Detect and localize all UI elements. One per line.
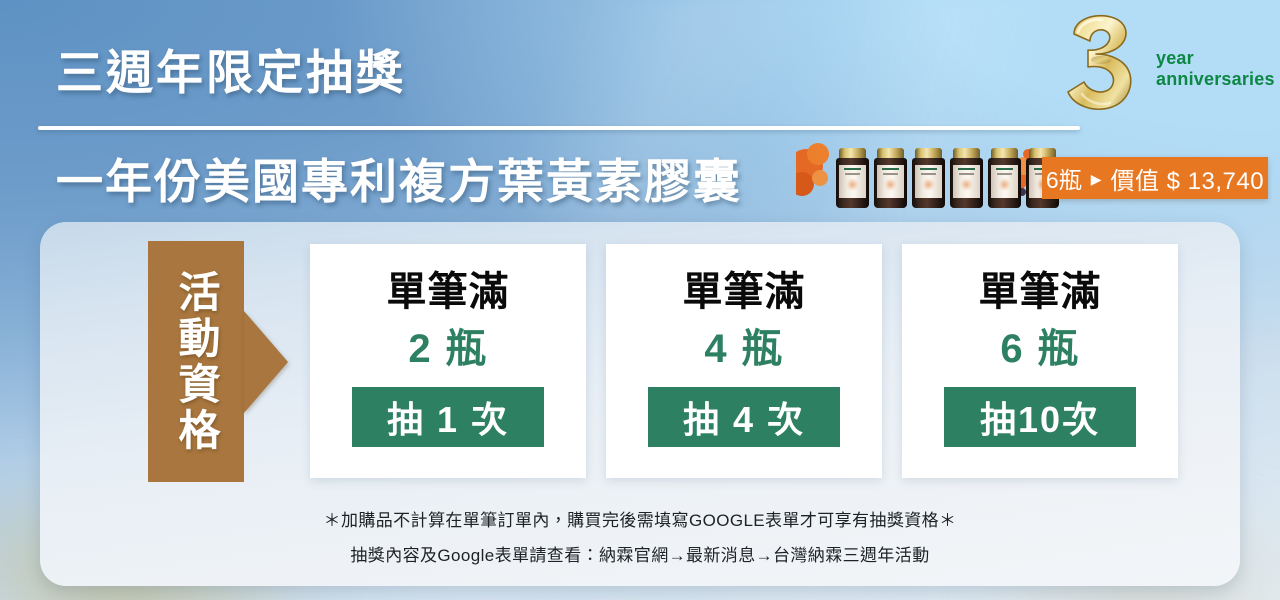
offer-amount: 6 瓶 — [1000, 329, 1079, 369]
offer-condition: 單筆滿 — [387, 272, 510, 312]
bottle-1 — [836, 148, 869, 208]
anniversary-logo: year anniversaries — [1044, 14, 1268, 118]
offer-condition: 單筆滿 — [979, 272, 1102, 312]
eligibility-tab: 活動資格 — [148, 241, 244, 482]
offer-amount: 4 瓶 — [704, 329, 783, 369]
offer-draw-badge: 抽 4 次 — [648, 387, 840, 447]
bottle-3 — [912, 148, 945, 208]
balloon-three-icon — [1054, 10, 1150, 114]
price-badge-quantity: 6瓶 — [1046, 161, 1082, 195]
offer-card-1[interactable]: 單筆滿 2 瓶 抽 1 次 — [310, 244, 586, 478]
page-title: 三週年限定抽獎 — [56, 34, 406, 103]
promo-banner: 三週年限定抽獎 一年份美國專利複方葉黃素膠囊 — [0, 0, 1280, 600]
price-badge-value: 價值 $ 13,740 — [1110, 161, 1264, 196]
anniversary-line2: anniversaries — [1156, 69, 1275, 90]
eligibility-arrow-icon — [244, 311, 288, 413]
offer-card-2[interactable]: 單筆滿 4 瓶 抽 4 次 — [606, 244, 882, 478]
anniversary-line1: year — [1156, 48, 1194, 68]
offer-draw-badge: 抽 1 次 — [352, 387, 544, 447]
offer-card-3[interactable]: 單筆滿 6 瓶 抽10次 — [902, 244, 1178, 478]
offer-draw-badge: 抽10次 — [944, 387, 1136, 447]
title-divider — [38, 126, 1080, 130]
bottle-4 — [950, 148, 983, 208]
bottle-5 — [988, 148, 1021, 208]
bottle-2 — [874, 148, 907, 208]
anniversary-text: year anniversaries — [1156, 48, 1275, 90]
footnote-line-2: 抽獎內容及Google表單請查看：納霖官網→最新消息→台灣納霖三週年活動 — [0, 543, 1280, 569]
footnote-line-1: ＊加購品不計算在單筆訂單內，購買完後需填寫GOOGLE表單才可享有抽獎資格＊ — [0, 508, 1280, 534]
offer-condition: 單筆滿 — [683, 272, 806, 312]
page-subtitle: 一年份美國專利複方葉黃素膠囊 — [56, 143, 742, 212]
play-arrow-icon: ▶ — [1091, 172, 1102, 186]
offer-cards: 單筆滿 2 瓶 抽 1 次 單筆滿 4 瓶 抽 4 次 單筆滿 6 瓶 抽10次 — [310, 244, 1178, 478]
footnotes: ＊加購品不計算在單筆訂單內，購買完後需填寫GOOGLE表單才可享有抽獎資格＊ 抽… — [0, 508, 1280, 568]
price-badge: 6瓶 ▶ 價值 $ 13,740 — [1042, 157, 1268, 199]
product-bottles-image — [796, 132, 1064, 210]
offer-amount: 2 瓶 — [408, 329, 487, 369]
